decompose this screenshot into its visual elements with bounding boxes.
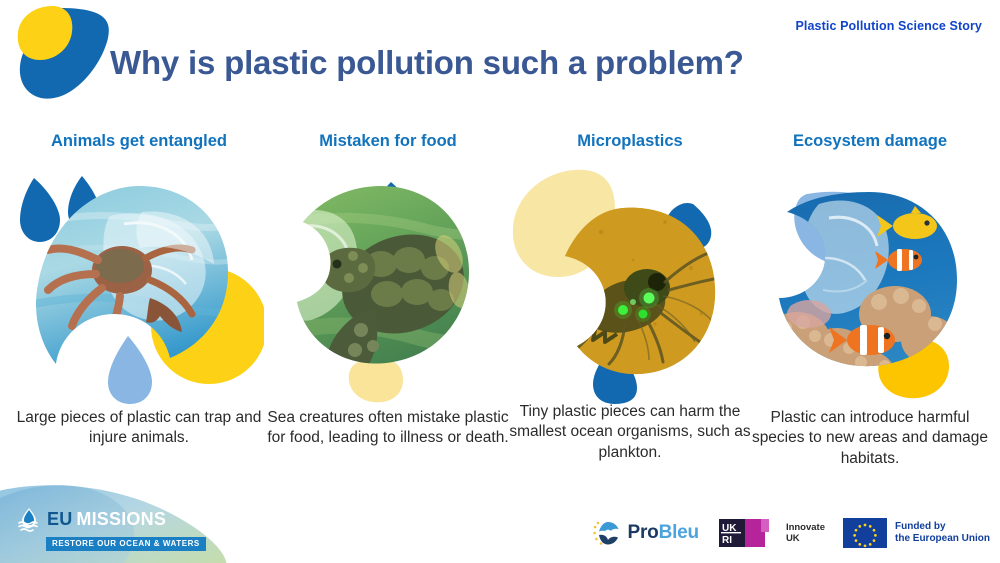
column-illustration (745, 164, 995, 404)
eu-missions-tagline: RESTORE OUR OCEAN & WATERS (46, 537, 206, 551)
water-drop-waves-icon (16, 506, 42, 532)
column-illustration (263, 164, 513, 404)
plankton-microscopy-icon (505, 164, 755, 404)
column-heading: Microplastics (505, 130, 755, 152)
coral-reef-clownfish-icon (745, 164, 995, 404)
column-caption: Plastic can introduce harmful species to… (745, 408, 995, 469)
svg-text:RI: RI (722, 535, 732, 546)
column-illustration (14, 164, 264, 404)
column-caption: Sea creatures often mistake plastic for … (263, 408, 513, 449)
problue-droplet-logo-icon (8, 2, 118, 102)
column-animals-get-entangled: Animals get entangled (14, 130, 264, 510)
ukri-innovate-uk-icon: UK RI (717, 517, 779, 549)
column-heading: Animals get entangled (14, 130, 264, 152)
innovate-uk-line1: Innovate (786, 522, 825, 533)
eu-missions-name-secondary: MISSIONS (76, 510, 166, 528)
column-mistaken-for-food: Mistaken for food (263, 130, 513, 510)
column-ecosystem-damage: Ecosystem damage (745, 130, 995, 510)
eu-funding-logo: Funded by the European Union (843, 518, 990, 548)
sea-turtle-plastic-icon (263, 164, 513, 404)
column-caption: Tiny plastic pieces can harm the smalles… (505, 402, 755, 463)
probleu-name-primary: Pro (627, 522, 658, 543)
column-heading: Ecosystem damage (745, 130, 995, 152)
footer-logo-strip: ProBleu UK RI Innovate UK (592, 517, 990, 549)
eu-flag-icon (843, 518, 887, 548)
probleu-logo: ProBleu (592, 518, 698, 548)
innovate-uk-line2: UK (786, 533, 825, 544)
probleu-name-secondary: Bleu (659, 522, 699, 543)
slide-root: Plastic Pollution Science Story Why is p… (0, 0, 1000, 563)
eu-missions-name-primary: EU (47, 510, 72, 528)
eu-funding-line2: the European Union (895, 533, 990, 545)
column-caption: Large pieces of plastic can trap and inj… (14, 408, 264, 449)
column-illustration (505, 164, 755, 404)
column-microplastics: Microplastics (505, 130, 755, 510)
probleu-globe-icon (592, 518, 622, 548)
page-title: Why is plastic pollution such a problem? (110, 44, 744, 82)
crab-in-plastic-bag-icon (14, 164, 264, 404)
column-heading: Mistaken for food (263, 130, 513, 152)
ukri-innovate-uk-logo: UK RI Innovate UK (717, 517, 825, 549)
kicker-label: Plastic Pollution Science Story (796, 19, 983, 33)
content-columns: Animals get entangled (0, 130, 1000, 510)
eu-missions-logo: EU MISSIONS RESTORE OUR OCEAN & WATERS (16, 505, 191, 551)
eu-funding-line1: Funded by (895, 521, 990, 533)
